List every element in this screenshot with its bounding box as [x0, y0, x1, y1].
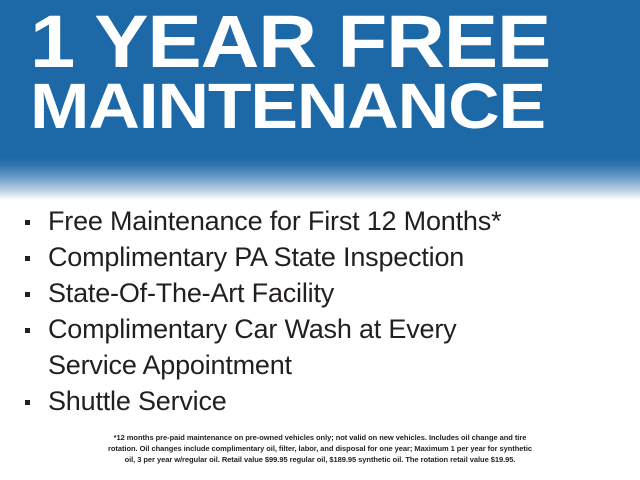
list-item-label: Shuttle Service [48, 383, 227, 419]
disclaimer-line-1: *12 months pre-paid maintenance on pre-o… [0, 432, 640, 443]
headline-line-2: MAINTENANCE [30, 74, 545, 138]
list-item: Complimentary PA State Inspection [0, 239, 640, 275]
list-item-label-continued: Service Appointment [48, 347, 292, 383]
list-item: Shuttle Service [0, 383, 640, 419]
list-item-label: Free Maintenance for First 12 Months* [48, 203, 501, 239]
offer-list: Free Maintenance for First 12 Months* Co… [0, 203, 640, 419]
square-bullet-icon [25, 256, 30, 261]
list-item: Free Maintenance for First 12 Months* [0, 203, 640, 239]
list-item-label: Complimentary PA State Inspection [48, 239, 464, 275]
list-item-continuation: Service Appointment [0, 347, 640, 383]
square-bullet-icon [25, 328, 30, 333]
square-bullet-icon [25, 292, 30, 297]
list-item-label: State-Of-The-Art Facility [48, 275, 334, 311]
headline-line-1: 1 YEAR FREE [30, 5, 550, 79]
square-bullet-icon [25, 220, 30, 225]
disclaimer: *12 months pre-paid maintenance on pre-o… [0, 432, 640, 466]
list-item-label: Complimentary Car Wash at Every [48, 311, 456, 347]
promo-banner: 1 YEAR FREE MAINTENANCE [0, 0, 640, 200]
list-item: State-Of-The-Art Facility [0, 275, 640, 311]
list-item: Complimentary Car Wash at Every [0, 311, 640, 347]
disclaimer-line-3: oil, 3 per year w/regular oil. Retail va… [0, 454, 640, 465]
disclaimer-line-2: rotation. Oil changes include compliment… [0, 443, 640, 454]
square-bullet-icon [25, 400, 30, 405]
